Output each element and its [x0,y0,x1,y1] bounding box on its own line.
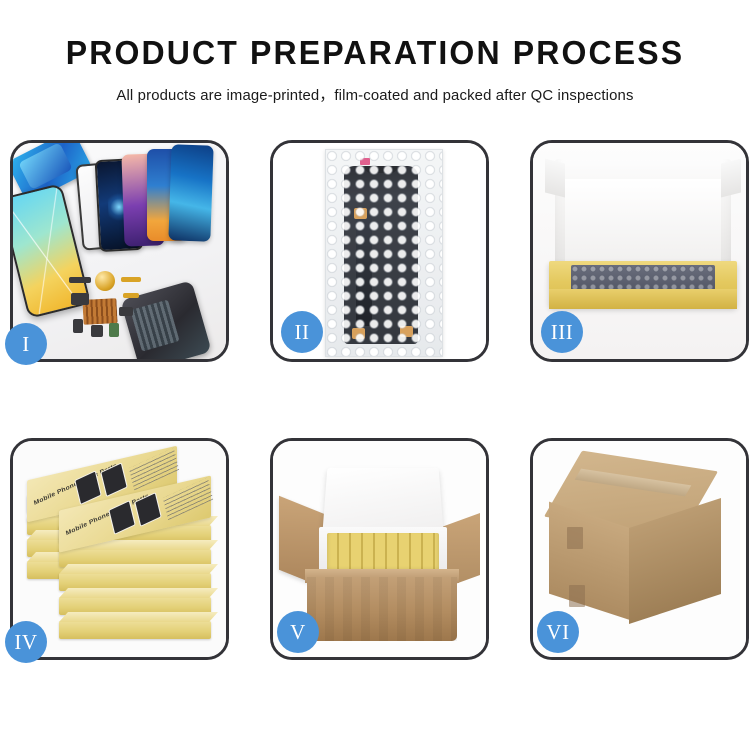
page-subtitle: All products are image-printed，film-coat… [8,83,743,105]
process-steps-grid: I II [10,140,748,660]
phone-screen-blue [168,144,213,241]
connector-gold [354,208,367,219]
step-image-1 [13,143,226,359]
box-spec-lines [163,477,213,520]
step-badge-6: VI [537,611,579,653]
speaker-part [91,325,103,337]
battery-part [109,323,119,337]
step-panel-2: II [270,140,489,362]
step-image-4: Mobile Phone Spare Parts Mobile Phone Sp… [13,441,226,657]
tray-front-face [549,289,737,309]
step-badge-4: IV [5,621,47,663]
vibration-motor-part [95,271,115,291]
connector-gold [352,328,365,339]
carton-tab-lower [569,585,585,607]
step-badge-2: II [281,311,323,353]
carton-body [307,577,457,641]
spare-parts-box [59,621,211,639]
foam-lid-open [322,468,443,533]
page-title: PRODUCT PREPARATION PROCESS [11,34,739,72]
step-panel-3: III [530,140,749,362]
sim-tray-part [73,319,83,333]
step-badge-5: V [277,611,319,653]
step-badge-1: I [5,323,47,365]
step-panel-1: I [10,140,229,362]
step-panel-6: VI [530,438,749,660]
connector-gold [400,326,413,337]
spare-part-strip [69,277,91,283]
step-panel-4: Mobile Phone Spare Parts Mobile Phone Sp… [10,438,229,660]
carton-tab-upper [567,527,583,549]
bubble-wrap-bag [325,149,443,357]
step-panel-5: V [270,438,489,660]
qc-sticker [360,158,370,165]
flex-cable-part [121,277,141,282]
screen-flex-cable [356,214,372,326]
packed-yellow-boxes [327,533,439,573]
camera-module-part [71,293,89,305]
sensor-part [119,307,133,316]
page-header: PRODUCT PREPARATION PROCESS All products… [0,0,750,105]
flex-cable-part [123,293,139,298]
step-badge-3: III [541,311,583,353]
